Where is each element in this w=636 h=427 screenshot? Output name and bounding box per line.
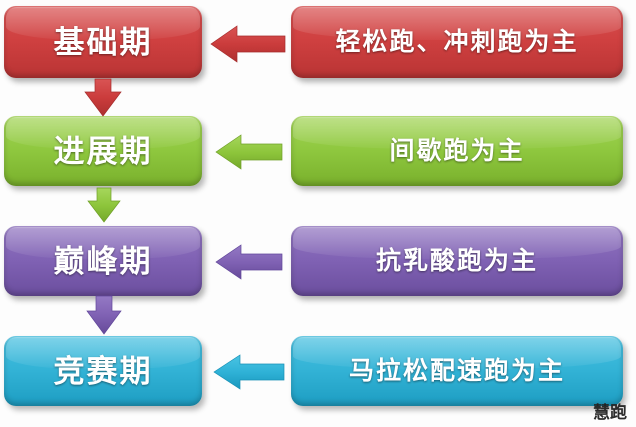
- phase-box-base[interactable]: 基础期: [4, 6, 202, 78]
- desc-box-base[interactable]: 轻松跑、冲刺跑为主: [291, 6, 623, 78]
- desc-label-progress: 间歇跑为主: [389, 139, 524, 164]
- desc-box-peak[interactable]: 抗乳酸跑为主: [291, 226, 623, 296]
- desc-box-race[interactable]: 马拉松配速跑为主: [291, 336, 623, 406]
- phase-label-peak: 巅峰期: [54, 246, 153, 277]
- left-arrow-race: [214, 352, 284, 392]
- watermark: 慧跑: [593, 398, 627, 423]
- phase-label-race: 竞赛期: [54, 356, 153, 387]
- down-arrow-base: [83, 79, 123, 116]
- phase-box-peak[interactable]: 巅峰期: [4, 226, 202, 296]
- left-arrow-base: [211, 24, 285, 64]
- desc-label-peak: 抗乳酸跑为主: [376, 249, 538, 274]
- desc-label-race: 马拉松配速跑为主: [349, 359, 565, 384]
- left-arrow-progress: [216, 133, 282, 171]
- phase-label-progress: 进展期: [54, 136, 153, 167]
- phase-label-base: 基础期: [54, 27, 153, 58]
- phase-box-progress[interactable]: 进展期: [4, 116, 202, 186]
- desc-label-base: 轻松跑、冲刺跑为主: [335, 30, 578, 55]
- flowchart-canvas: 基础期 轻松跑、冲刺跑为主 进展期: [0, 0, 636, 427]
- left-arrow-peak: [216, 243, 282, 281]
- down-arrow-peak: [85, 296, 123, 334]
- phase-box-race[interactable]: 竞赛期: [4, 336, 202, 406]
- desc-box-progress[interactable]: 间歇跑为主: [291, 116, 623, 186]
- down-arrow-progress: [86, 188, 122, 222]
